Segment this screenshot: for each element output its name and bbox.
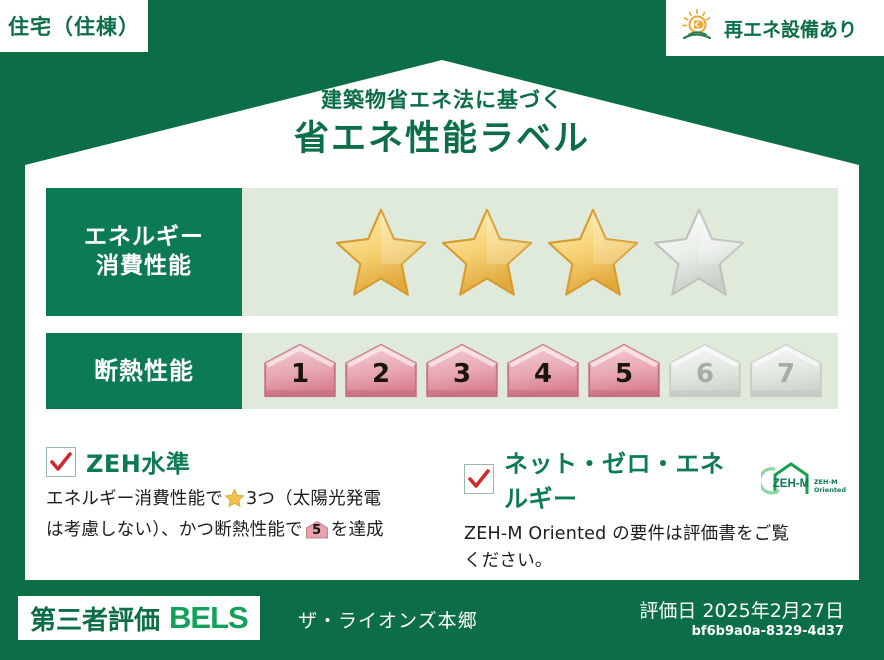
insulation-grade-6: 6 bbox=[666, 342, 744, 400]
zeh-standard-description: エネルギー消費性能で 3つ（太陽光発電 は考慮しない）、かつ断熱性能で 5を達成 bbox=[46, 486, 446, 549]
insulation-grade-3: 3 bbox=[423, 342, 501, 400]
insulation-grade-number: 3 bbox=[423, 361, 501, 387]
energy-performance-label: エネルギー 消費性能 bbox=[46, 188, 242, 316]
inline-star-icon bbox=[224, 488, 245, 517]
renewable-badge-label: 再エネ設備あり bbox=[724, 15, 857, 42]
insulation-performance-row: 断熱性能 1234567 bbox=[46, 333, 838, 409]
star-icon-filled bbox=[333, 206, 429, 298]
net-zero-energy-heading: ネット・ゼロ・エネルギー ZEH-M ZEH-M Oriented bbox=[464, 444, 846, 514]
insulation-grade-1: 1 bbox=[261, 342, 339, 400]
insulation-grade-7: 7 bbox=[747, 342, 825, 400]
dwelling-type-tag: 住宅（住棟） bbox=[0, 0, 148, 52]
zeh-criteria-section: ZEH水準 エネルギー消費性能で 3つ（太陽光発電 は考慮しない）、かつ断熱性能… bbox=[46, 444, 846, 575]
net-zero-energy-checkbox bbox=[464, 464, 494, 494]
insulation-grade-number: 1 bbox=[261, 361, 339, 387]
dwelling-type-label: 住宅（住棟） bbox=[8, 11, 140, 41]
renewable-equipment-badge: 再エネ設備あり bbox=[666, 0, 884, 56]
evaluation-date: 評価日 2025年2月27日 bbox=[639, 596, 844, 623]
bels-logo-en: BELS bbox=[169, 600, 248, 636]
zeh-standard-checkbox bbox=[46, 447, 76, 477]
insulation-grade-number: 6 bbox=[666, 361, 744, 387]
insulation-grade-number: 4 bbox=[504, 361, 582, 387]
inline-house-number: 5 bbox=[305, 524, 329, 537]
bels-logo-jp: 第三者評価 bbox=[30, 600, 160, 637]
energy-performance-row: エネルギー 消費性能 bbox=[46, 188, 838, 316]
insulation-grade-4: 4 bbox=[504, 342, 582, 400]
svg-text:ZEH-M: ZEH-M bbox=[773, 478, 809, 490]
net-zero-energy-title: ネット・ゼロ・エネルギー bbox=[504, 444, 745, 514]
insulation-grade-5: 5 bbox=[585, 342, 663, 400]
insulation-grade-scale: 1234567 bbox=[242, 333, 838, 409]
star-icon-filled bbox=[545, 206, 641, 298]
insulation-grade-number: 7 bbox=[747, 361, 825, 387]
insulation-performance-label: 断熱性能 bbox=[46, 333, 242, 409]
insulation-grade-number: 2 bbox=[342, 361, 420, 387]
insulation-grade-2: 2 bbox=[342, 342, 420, 400]
net-zero-energy-description: ZEH-M Oriented の要件は評価書をご覧 ください。 bbox=[464, 521, 846, 575]
evaluation-id: bf6b9a0a-8329-4d37 bbox=[692, 624, 844, 639]
inline-house-icon: 5 bbox=[305, 520, 329, 549]
label-footer: 第三者評価 BELS ザ・ライオンズ本郷 評価日 2025年2月27日 bf6b… bbox=[0, 584, 884, 660]
zeh-standard-block: ZEH水準 エネルギー消費性能で 3つ（太陽光発電 は考慮しない）、かつ断熱性能… bbox=[46, 444, 446, 575]
sun-energy-icon bbox=[680, 8, 716, 48]
energy-star-rating bbox=[242, 188, 838, 316]
insulation-grade-number: 5 bbox=[585, 361, 663, 387]
property-name: ザ・ライオンズ本郷 bbox=[298, 606, 478, 633]
zeh-standard-title: ZEH水準 bbox=[86, 444, 190, 479]
energy-label-card: 住宅（住棟） 再エネ設備あり 建築物省エネ法に基 bbox=[0, 0, 884, 660]
check-icon bbox=[49, 450, 73, 474]
bels-logo: 第三者評価 BELS bbox=[18, 596, 260, 640]
net-zero-energy-block: ネット・ゼロ・エネルギー ZEH-M ZEH-M Oriented ZEH-M … bbox=[446, 444, 846, 575]
zeh-m-oriented-logo: ZEH-M ZEH-M Oriented bbox=[761, 460, 846, 498]
star-icon-empty bbox=[651, 206, 747, 298]
zeh-m-oriented-caption: ZEH-M Oriented bbox=[814, 479, 846, 498]
zeh-standard-heading: ZEH水準 bbox=[46, 444, 446, 479]
star-icon-filled bbox=[439, 206, 535, 298]
zeh-m-house-icon: ZEH-M bbox=[761, 460, 811, 498]
check-icon bbox=[467, 467, 491, 491]
page-title: 省エネ性能ラベル bbox=[0, 110, 884, 161]
